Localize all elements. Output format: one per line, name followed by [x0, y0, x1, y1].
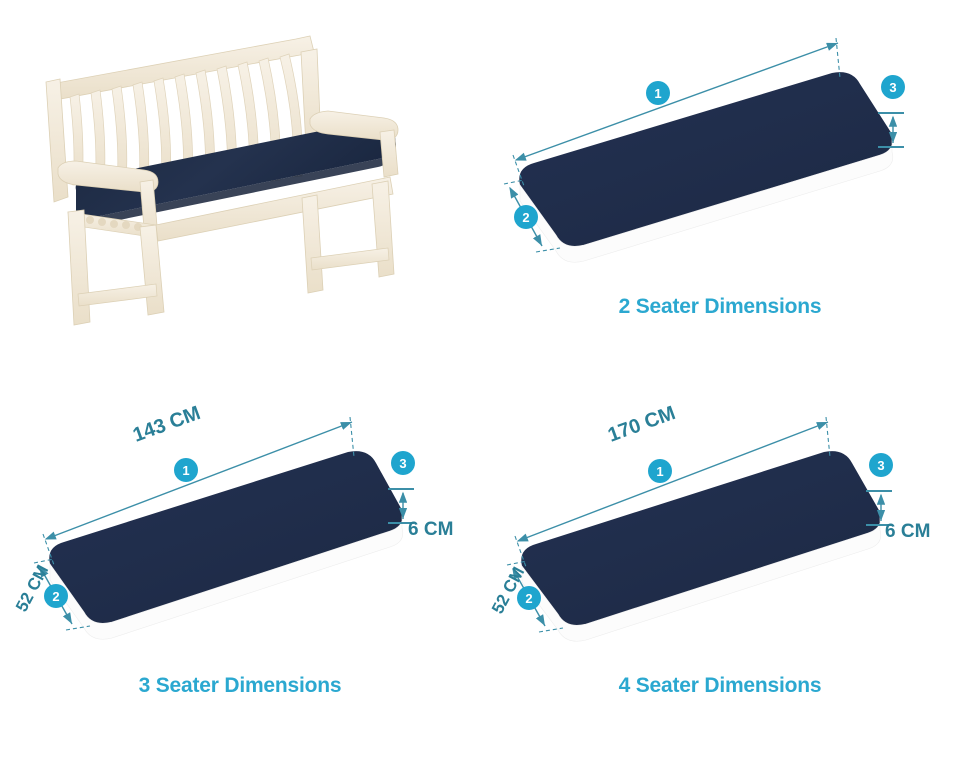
panel-three-title: 3 Seater Dimensions	[0, 674, 480, 698]
thickness-label: 6 CM	[885, 521, 930, 543]
bench-photo-panel	[0, 0, 480, 384]
badge-thickness-number: 3	[889, 80, 896, 95]
bench-illustration	[18, 22, 463, 362]
two-seater-diagram: 1 2 3	[480, 0, 960, 384]
three-seater-diagram: 1 2 3	[0, 384, 480, 768]
dimension-infographic: 1 2 3 108 CM 45 CM 6 CM 2 Seater Dimensi…	[0, 0, 960, 768]
thickness-label: 6 CM	[408, 519, 453, 541]
panel-four-seater: 1 2 3 170 CM 52 CM 6 CM 4 Seater Dimensi…	[480, 384, 960, 768]
badge-thickness-number: 3	[877, 458, 884, 473]
panel-four-title: 4 Seater Dimensions	[480, 674, 960, 698]
badge-depth-number: 2	[522, 210, 529, 225]
badge-length-number: 1	[182, 463, 189, 478]
panel-two-title: 2 Seater Dimensions	[480, 295, 960, 319]
badge-depth-number: 2	[52, 589, 59, 604]
badge-length-number: 1	[654, 86, 661, 101]
panel-two-seater: 1 2 3 108 CM 45 CM 6 CM 2 Seater Dimensi…	[480, 0, 960, 384]
badge-thickness-number: 3	[399, 456, 406, 471]
badge-depth-number: 2	[525, 591, 532, 606]
panel-three-seater: 1 2 3 143 CM 52 CM 6 CM 3 Seater Dimensi…	[0, 384, 480, 768]
badge-length-number: 1	[656, 464, 663, 479]
four-seater-diagram: 1 2 3	[480, 384, 960, 768]
